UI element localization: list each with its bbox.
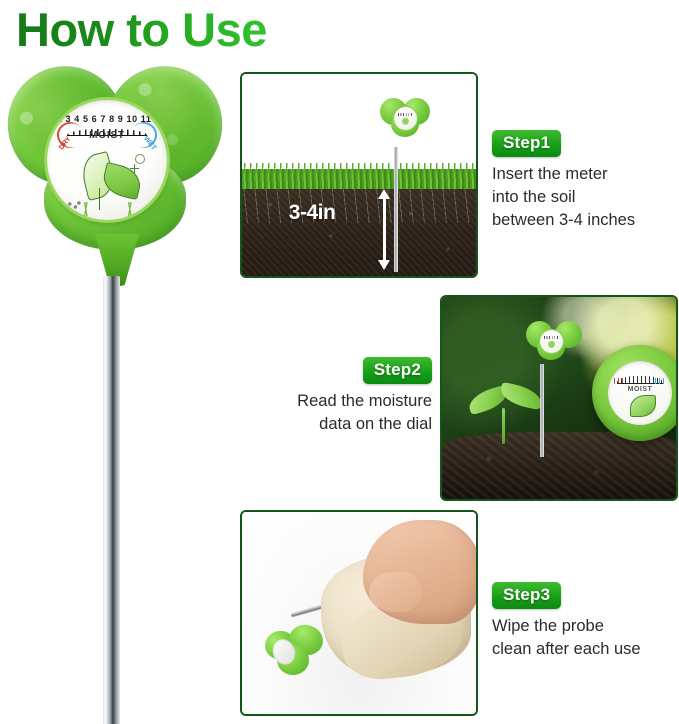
seedling-illustration <box>468 382 542 444</box>
step-2-badge: Step2 <box>363 357 432 384</box>
step-3-badge: Step3 <box>492 582 561 609</box>
dial-wet-zone-icon <box>655 378 665 384</box>
magnified-dial-label: MOIST <box>608 386 672 393</box>
step-3-block: Step3 Wipe the probe clean after each us… <box>492 582 678 661</box>
inserted-probe <box>394 147 398 272</box>
meter-head-small <box>265 625 323 675</box>
thumb <box>369 572 421 612</box>
hand <box>363 520 478 624</box>
grass-icon <box>121 202 139 216</box>
meter-head-small <box>526 321 582 367</box>
panel-wipe-probe <box>240 510 478 716</box>
leaf-icon <box>630 395 656 417</box>
stem-icon <box>502 408 505 444</box>
panel-soil-depth: 3-4in <box>240 72 478 278</box>
sparkle-icon <box>130 164 139 173</box>
meter-head-small <box>380 98 430 138</box>
step-1-text: Insert the meter into the soil between 3… <box>492 163 678 231</box>
leaf-icon <box>498 382 543 410</box>
stem-icon <box>99 188 100 210</box>
depth-arrow-icon <box>377 189 391 270</box>
roots-texture-icon <box>242 187 476 223</box>
grass-layer <box>242 169 476 189</box>
sun-icon <box>135 154 145 164</box>
arrow-down-head-icon <box>378 260 390 270</box>
panel-seedling-dial: MOIST <box>440 295 678 501</box>
meter-probe-shaft <box>103 276 120 724</box>
inserted-probe <box>540 364 544 457</box>
step-2-text: Read the moisture data on the dial <box>240 390 432 436</box>
step-1-block: Step1 Insert the meter into the soil bet… <box>492 130 678 231</box>
magnified-dial-face: MOIST <box>608 361 672 425</box>
sky-background <box>242 74 476 175</box>
depth-label: 3-4in <box>289 201 336 225</box>
step-1-badge: Step1 <box>492 130 561 157</box>
product-illustration: 1 2 3 4 5 6 7 8 9 10 11 12 MOIST DRY WET <box>2 58 230 722</box>
page-title: How to Use <box>16 2 267 57</box>
moisture-dial: 1 2 3 4 5 6 7 8 9 10 11 12 MOIST DRY WET <box>47 100 167 220</box>
step-2-block: Step2 Read the moisture data on the dial <box>240 357 432 436</box>
step-3-text: Wipe the probe clean after each use <box>492 615 678 661</box>
how-to-use-infographic: How to Use 1 2 3 4 5 6 7 8 9 10 11 12 MO… <box>0 0 679 724</box>
arrow-shaft <box>383 197 386 262</box>
soil-dots-icon <box>67 200 81 210</box>
dial-plant-illustration <box>47 148 167 220</box>
meter-head: 1 2 3 4 5 6 7 8 9 10 11 12 MOIST DRY WET <box>2 58 230 263</box>
